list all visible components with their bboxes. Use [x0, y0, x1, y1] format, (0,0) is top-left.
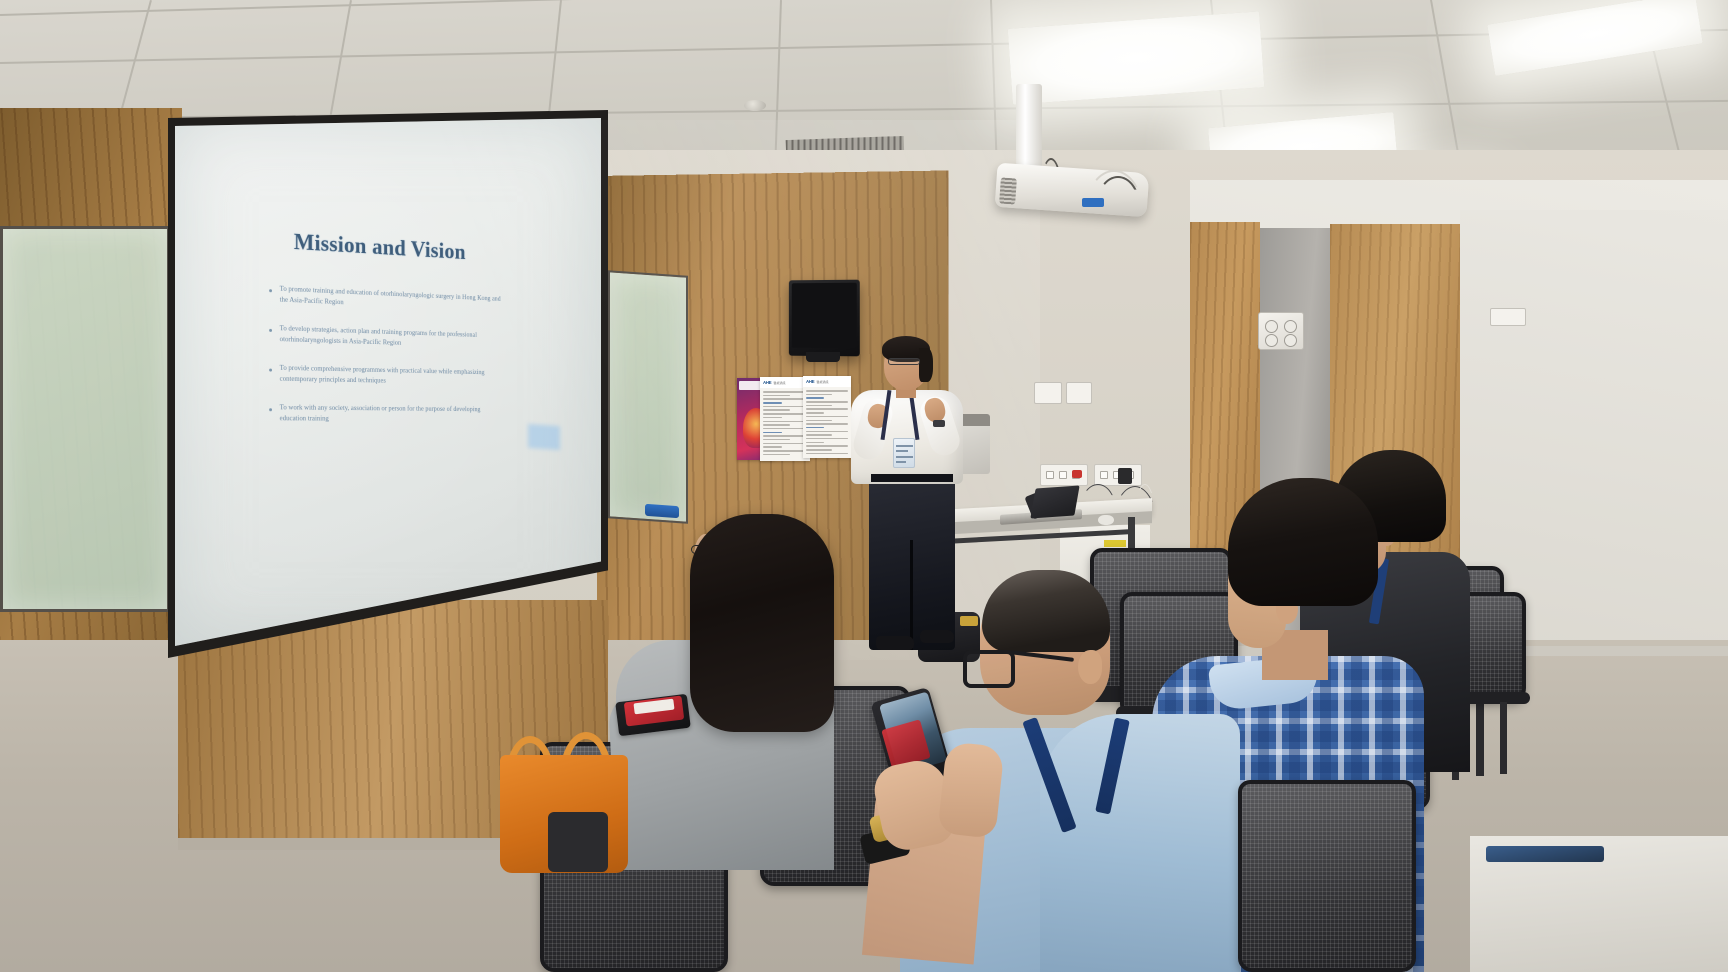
- list-item: To develop strategies, action plan and t…: [269, 323, 509, 351]
- screen-light-patch: [528, 424, 560, 450]
- list-item: To provide comprehensive programmes with…: [269, 363, 509, 388]
- slide-title: Mission and Vision: [244, 226, 509, 267]
- bag-tag: [960, 616, 978, 626]
- socket-outlet-icon: [1265, 320, 1278, 333]
- light-switch-plate[interactable]: [1034, 382, 1062, 404]
- attendee-blue-shirt-ear: [1078, 650, 1102, 684]
- tv-screen: [792, 283, 857, 349]
- slide-bullet-text: To work with any society, association or…: [280, 402, 502, 424]
- ceiling-light-panel: [1487, 0, 1703, 76]
- bullet-dot-icon: [269, 289, 272, 292]
- tote-bag-contents: [548, 812, 608, 872]
- light-switch-plate[interactable]: [1490, 308, 1526, 326]
- whiteboard-marker[interactable]: [645, 504, 679, 518]
- socket-outlet-icon: [1284, 334, 1297, 347]
- bullet-dot-icon: [269, 369, 272, 372]
- glass-whiteboard-center[interactable]: [608, 270, 688, 524]
- projector-lens-icon: [999, 177, 1017, 204]
- slide-bullet-text: To promote training and education of oto…: [280, 284, 502, 314]
- presenter-id-badge: [893, 438, 915, 468]
- poster-logo-text: AHE: [763, 380, 771, 385]
- wall-poster-notice-2: AHE 醫療通訊: [803, 376, 851, 458]
- room-photo-scene: Mission and Vision To promote training a…: [0, 0, 1728, 972]
- wall-mounted-tv[interactable]: [789, 280, 860, 357]
- attendee-plaid-shirt-hair: [1228, 478, 1378, 606]
- attendee-woman-hair: [690, 514, 834, 732]
- socket-outlet-icon: [1284, 320, 1297, 333]
- presenter-belt: [871, 474, 953, 482]
- ceiling-light-panel: [1008, 11, 1265, 104]
- glass-whiteboard-left[interactable]: [0, 226, 170, 612]
- projector-cable-tag: [1082, 198, 1104, 207]
- socket-outlet-icon: [1265, 334, 1278, 347]
- presenter-leg-seam: [910, 540, 913, 650]
- presenter-glasses-icon: [888, 358, 920, 365]
- laptop-screen[interactable]: [1030, 485, 1079, 518]
- poster-body: [803, 387, 851, 458]
- tv-wall-mount: [806, 352, 840, 362]
- device-on-table: [1486, 846, 1604, 862]
- slide-bullet-list: To promote training and education of oto…: [244, 282, 509, 424]
- computer-mouse[interactable]: [1098, 515, 1114, 525]
- smoke-detector-icon: [744, 100, 766, 111]
- attendee-glasses-icon: [963, 650, 1015, 688]
- bullet-dot-icon: [269, 329, 272, 332]
- presenter-wristwatch: [933, 420, 945, 427]
- lanyard-brand-text: OLYMPUS: [1022, 722, 1023, 723]
- poster-subtitle-text: 醫療通訊: [773, 381, 785, 385]
- presenter-shoe: [920, 630, 954, 643]
- list-item: To work with any society, association or…: [269, 402, 509, 424]
- slide-bullet-text: To develop strategies, action plan and t…: [280, 323, 502, 350]
- power-plug: [1118, 468, 1132, 484]
- power-plug: [1072, 470, 1082, 478]
- attendee-blue-shirt-shoulder: [1040, 714, 1240, 972]
- presenter-shoe: [876, 636, 914, 650]
- presentation-slide: Mission and Vision To promote training a…: [244, 186, 509, 506]
- poster-subtitle-text: 醫療通訊: [816, 380, 828, 384]
- wall-socket-plate-right[interactable]: [1258, 312, 1304, 350]
- cabinet-yellow-label: [1104, 540, 1126, 547]
- attendee-hand-right: [937, 741, 1004, 839]
- bullet-dot-icon: [269, 408, 272, 411]
- presenter-hair-side: [919, 348, 933, 382]
- poster-logo-text: AHE: [806, 379, 814, 384]
- list-item: To promote training and education of oto…: [269, 283, 509, 314]
- light-switch-plate[interactable]: [1066, 382, 1092, 404]
- poster-header: AHE 醫療通訊: [803, 376, 851, 387]
- slide-bullet-text: To provide comprehensive programmes with…: [280, 363, 502, 388]
